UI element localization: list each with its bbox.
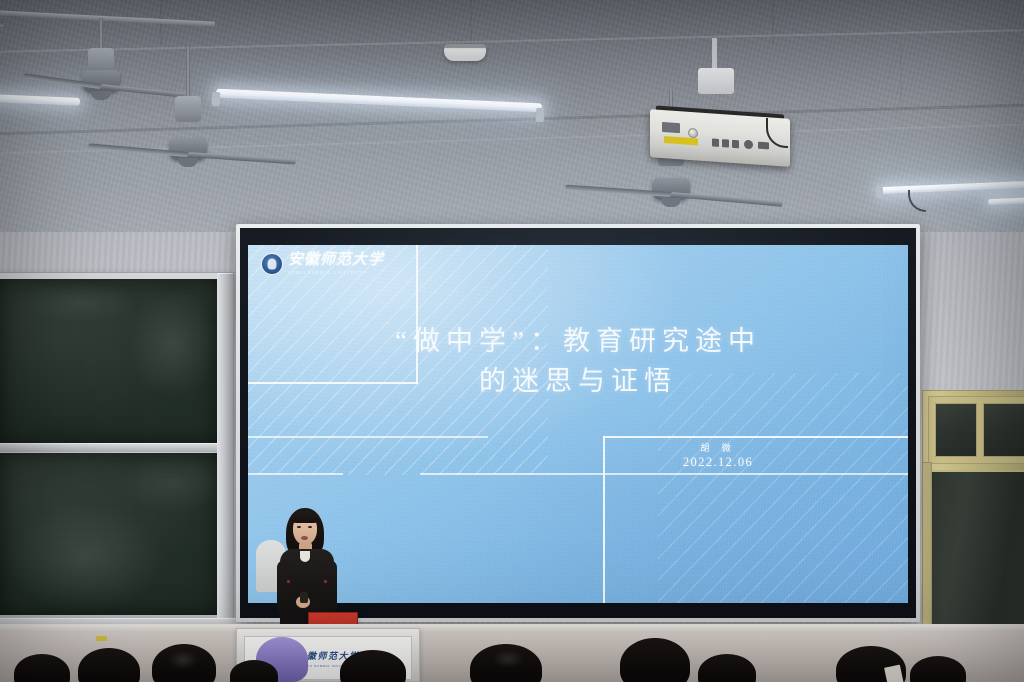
door-transom-glass-right [983,403,1024,457]
projector-lens [688,128,698,139]
slide-diagonal-hatch-bottomright [658,373,908,603]
chalk-smudge [5,503,165,613]
presenter-arm-left [277,560,292,616]
audience-hair-highlight [492,650,524,668]
projector-port-1 [712,138,719,146]
presenter-eye-left [297,526,301,528]
green-chalkboard [0,272,234,624]
projector-port-4 [744,140,753,150]
projector-port-5 [758,142,769,150]
slide-rule-mid-lower [248,473,343,475]
slide-presenter-name: 胡 微 [643,441,793,454]
projector-mount-pole [712,38,717,72]
fan-blade-edge [0,14,4,27]
presenter-mouth [301,536,308,540]
ceiling-fan-center-left [108,46,268,226]
fan-cap [661,198,681,207]
slide-infobox-top-rule [603,436,908,438]
projector-port-2 [722,139,729,147]
presenter-collar [300,551,310,562]
chalkboard-divider-rail [0,443,219,452]
presenter-arm-right [322,560,337,614]
presenter-hair-fringe [291,511,319,523]
projector-mount-bracket [698,68,734,94]
door-transom [928,396,1024,464]
university-seal-icon [261,253,283,275]
slide-infobox-vertical-rule [603,436,605,603]
slide-title: “做中学”：教育研究途中 的迷思与证悟 [248,321,908,401]
tube-cap-right-upper [876,186,883,198]
projector-port-3 [732,140,739,148]
jacket-button-left [287,580,290,583]
university-name-cn: 安徽师范大学 [288,253,384,268]
jacket-button-right [324,580,327,583]
classroom-photo-scene: 安徽师范大学 ANHUI NORMAL UNIVERSITY “做中学”：教育研… [0,0,1024,682]
chalkboard-panel-upper [0,279,217,443]
ceiling-seam-vertical-2 [470,0,472,50]
chalk-smudge [19,283,139,323]
audience-hair-highlight [168,650,198,670]
ceiling-fan-edge [0,10,44,50]
slide-rule-mid-upper [248,436,488,438]
chalk-smudge [119,453,229,513]
presenter-eye-right [308,526,312,528]
slide-date: 2022.12.06 [638,455,798,470]
university-name-en: ANHUI NORMAL UNIVERSITY [288,271,384,275]
chalkboard-panel-lower [0,453,217,615]
tube-cap-center-right [536,108,545,122]
desk-marker [96,636,107,641]
door-transom-glass-left [935,403,977,457]
fan-cap [178,158,198,167]
slide-university-logo: 安徽师范大学 ANHUI NORMAL UNIVERSITY [261,253,384,275]
presenter-clicker [300,592,308,603]
fan-bracket [175,96,201,122]
ceiling-seam-vertical-3 [772,0,774,45]
projector-vent [662,122,680,133]
chalkboard-side-rail [217,273,233,625]
ceiling-seam-vertical-4 [900,44,902,104]
smoke-detector-rim [444,44,486,48]
chalk-smudge [129,289,219,399]
smoke-detector [444,44,486,61]
slide-rule-mid-center [420,473,908,475]
lecture-desk-top-edge [0,624,1024,632]
